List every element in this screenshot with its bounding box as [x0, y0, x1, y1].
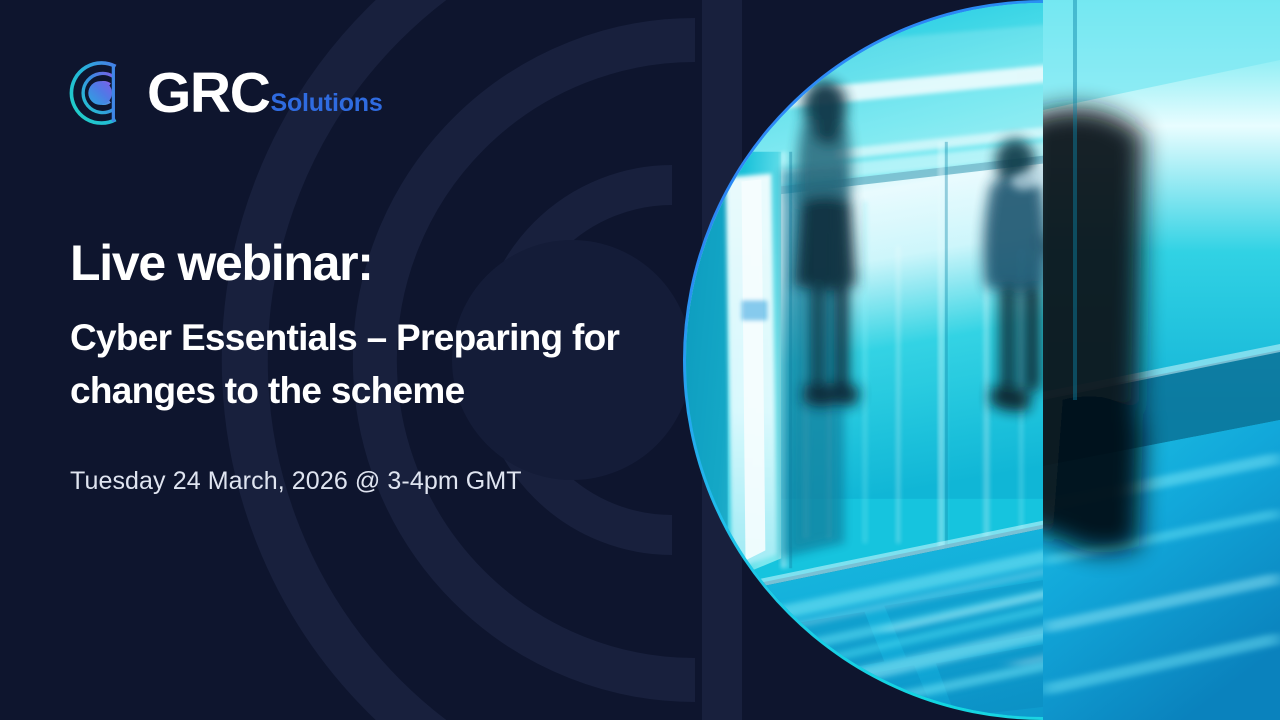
grc-solutions-logo[interactable]: GRC Solutions [68, 58, 383, 128]
logo-solutions-text: Solutions [270, 91, 382, 116]
hero-photo-bleed [1043, 0, 1280, 720]
hero-photo-ring [683, 0, 1280, 720]
logo-grc-text: GRC [147, 65, 269, 122]
webinar-banner: GRC Solutions Live webinar: Cyber Essent… [0, 0, 1280, 720]
grc-concentric-arc-mark-icon [68, 58, 138, 128]
copy-block: Live webinar: Cyber Essentials – Prepari… [70, 236, 670, 498]
person-silhouette [1009, 70, 1144, 335]
hero-photo-circle [683, 0, 1280, 720]
webinar-title: Cyber Essentials – Preparing for changes… [70, 312, 665, 417]
webinar-datetime: Tuesday 24 March, 2026 @ 3-4pm GMT [70, 465, 670, 498]
hero-photo-clip [686, 3, 1280, 717]
person-silhouette [795, 80, 860, 406]
person-silhouette [1237, 51, 1280, 420]
logo-wordmark: GRC Solutions [147, 65, 383, 122]
eyebrow-label: Live webinar: [70, 236, 670, 290]
person-silhouette [984, 139, 1081, 412]
